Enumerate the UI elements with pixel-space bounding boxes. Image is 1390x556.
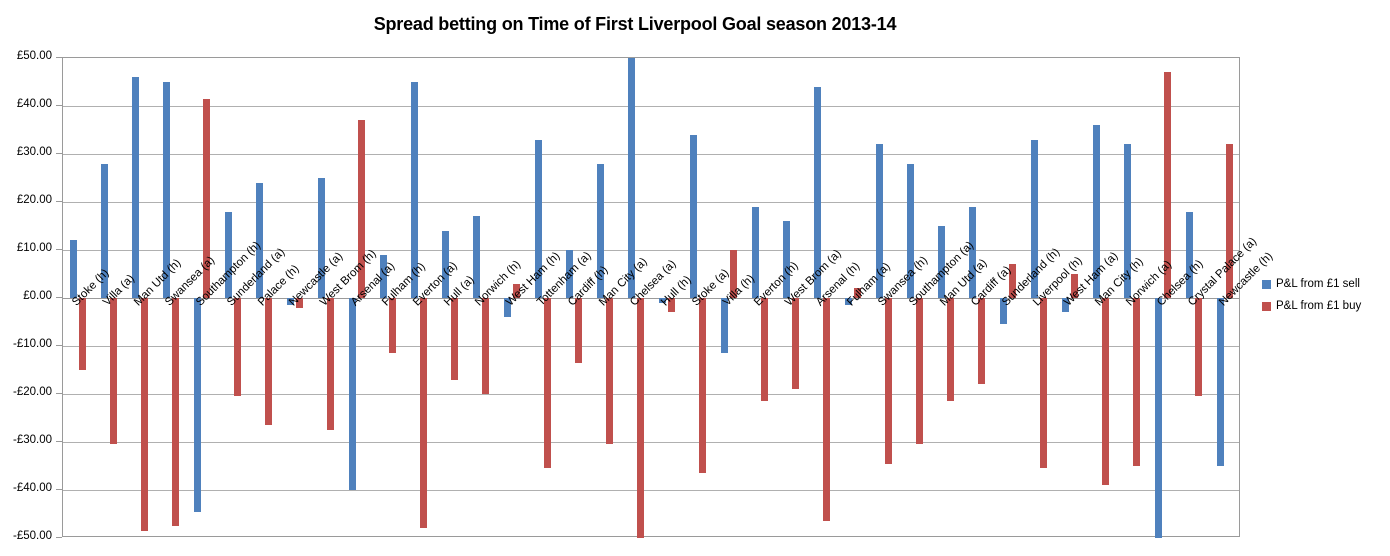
bar-buy	[637, 298, 644, 538]
bar-sell	[194, 298, 201, 512]
bar-sell	[132, 77, 139, 298]
legend-swatch-icon	[1262, 302, 1271, 311]
bar-buy	[1133, 298, 1140, 466]
bar-buy	[606, 298, 613, 444]
y-axis-tick-label: -£20.00	[0, 387, 52, 398]
bar-buy	[978, 298, 985, 384]
y-axis-tick-label: £10.00	[0, 243, 52, 254]
y-axis-tick-label: -£30.00	[0, 435, 52, 446]
bar-buy	[79, 298, 86, 370]
bar-buy	[1195, 298, 1202, 396]
bar-sell	[349, 298, 356, 490]
y-axis-tick-label: £30.00	[0, 147, 52, 158]
bar-buy	[172, 298, 179, 526]
bar-buy	[1102, 298, 1109, 485]
bar-sell	[70, 240, 77, 298]
legend-item[interactable]: P&L from £1 sell	[1262, 278, 1361, 290]
y-axis-tick-label: £40.00	[0, 99, 52, 110]
bar-buy	[327, 298, 334, 430]
y-axis-tick-label: £0.00	[0, 291, 52, 302]
chart-legend: P&L from £1 sellP&L from £1 buy	[1262, 278, 1361, 322]
bar-buy	[110, 298, 117, 444]
bar-sell	[1217, 298, 1224, 466]
bar-buy	[1040, 298, 1047, 468]
chart-container: Spread betting on Time of First Liverpoo…	[0, 0, 1390, 556]
bar-buy	[141, 298, 148, 531]
bar-buy	[792, 298, 799, 389]
y-axis-tick-mark	[56, 537, 62, 538]
bar-buy	[916, 298, 923, 444]
bar-sell	[690, 135, 697, 298]
bar-buy	[885, 298, 892, 464]
legend-label: P&L from £1 buy	[1276, 300, 1361, 312]
legend-label: P&L from £1 sell	[1276, 278, 1360, 290]
y-axis-tick-label: -£40.00	[0, 483, 52, 494]
y-axis-tick-label: £50.00	[0, 51, 52, 62]
bar-buy	[823, 298, 830, 521]
bar-buy	[761, 298, 768, 401]
bar-sell	[1186, 212, 1193, 298]
bar-sell	[225, 212, 232, 298]
chart-title: Spread betting on Time of First Liverpoo…	[0, 14, 1270, 35]
bar-sell	[1155, 298, 1162, 538]
bar-buy	[451, 298, 458, 380]
bar-sell	[473, 216, 480, 298]
bar-buy	[575, 298, 582, 363]
bar-buy	[482, 298, 489, 394]
bar-buy	[420, 298, 427, 528]
y-axis-tick-label: £20.00	[0, 195, 52, 206]
bar-sell	[783, 221, 790, 298]
bar-buy	[699, 298, 706, 473]
bar-buy	[947, 298, 954, 401]
y-axis-tick-label: -£50.00	[0, 531, 52, 542]
bar-buy	[544, 298, 551, 468]
legend-item[interactable]: P&L from £1 buy	[1262, 300, 1361, 312]
bar-buy	[234, 298, 241, 396]
legend-swatch-icon	[1262, 280, 1271, 289]
bar-buy	[265, 298, 272, 425]
y-axis-tick-label: -£10.00	[0, 339, 52, 350]
